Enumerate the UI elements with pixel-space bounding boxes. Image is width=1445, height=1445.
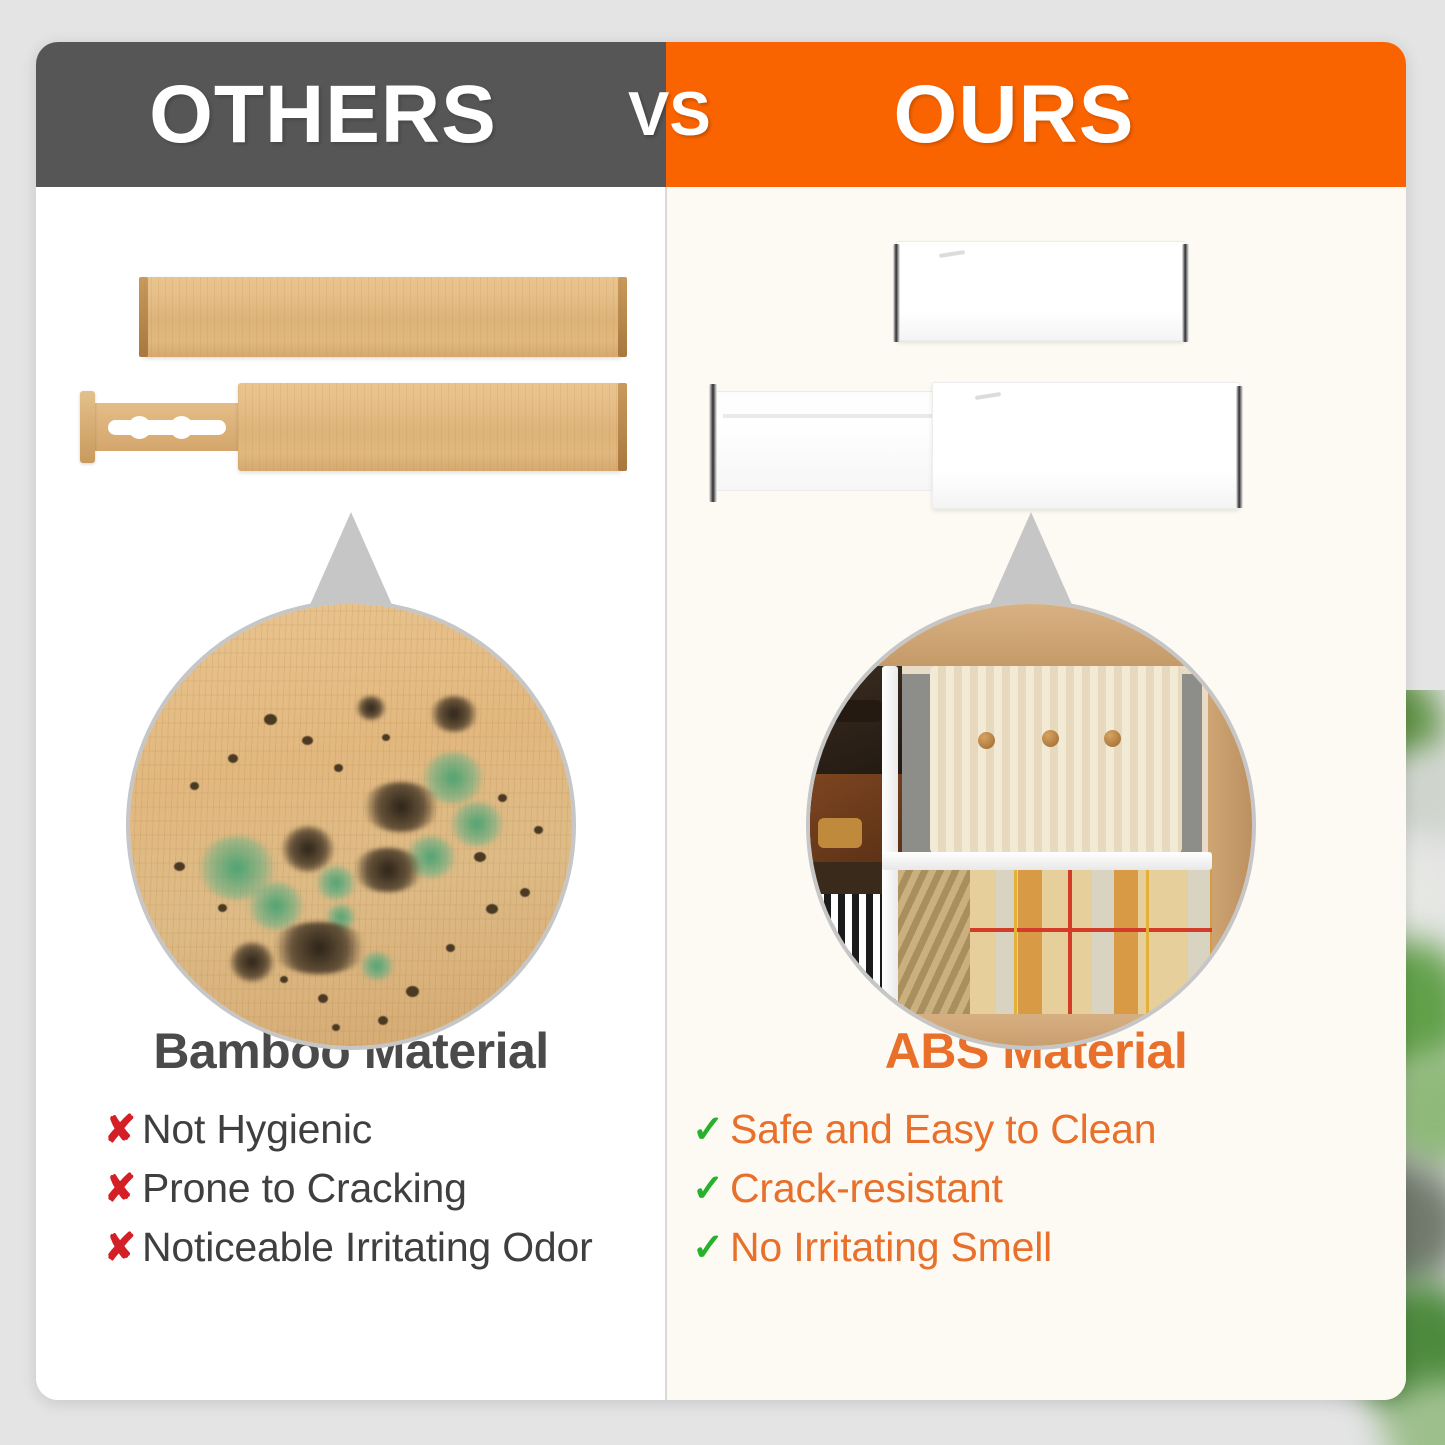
- abs-divider-product-image: [696, 229, 1376, 529]
- list-item: ✘ Prone to Cracking: [98, 1165, 666, 1212]
- bamboo-end-cap-right: [618, 277, 627, 357]
- check-icon: ✓: [686, 1111, 730, 1149]
- list-item: ✓ Crack-resistant: [686, 1165, 1406, 1212]
- bamboo-drawbacks-list: ✘ Not Hygienic ✘ Prone to Cracking ✘ Not…: [36, 1106, 666, 1271]
- header-ours-side: OURS: [666, 42, 1406, 187]
- list-item-label: Crack-resistant: [730, 1165, 1003, 1212]
- abs-panel-bottom: [932, 382, 1240, 509]
- ours-column: ABS Material ✓ Safe and Easy to Clean ✓ …: [666, 187, 1406, 1400]
- organized-drawer-photo: [810, 604, 1252, 1046]
- column-divider: [665, 187, 667, 1400]
- list-item: ✓ Safe and Easy to Clean: [686, 1106, 1406, 1153]
- list-item: ✘ Noticeable Irritating Odor: [98, 1224, 666, 1271]
- bamboo-board-top: [144, 277, 622, 357]
- abs-extension-rail: [716, 391, 944, 491]
- list-item-label: Not Hygienic: [142, 1106, 372, 1153]
- organized-drawer-magnifier: [806, 600, 1256, 1050]
- bamboo-mold-callout: [126, 512, 576, 1012]
- organized-drawer-callout: [806, 512, 1256, 1012]
- abs-benefits-list: ✓ Safe and Easy to Clean ✓ Crack-resista…: [666, 1106, 1406, 1271]
- others-column: Bamboo Material ✘ Not Hygienic ✘ Prone t…: [36, 187, 666, 1400]
- list-item-label: Safe and Easy to Clean: [730, 1106, 1156, 1153]
- bamboo-board-bottom: [238, 383, 622, 471]
- cross-icon: ✘: [98, 1229, 142, 1267]
- bamboo-board-bottom-end-cap: [618, 383, 627, 471]
- abs-edge-left: [893, 244, 900, 342]
- list-item-label: No Irritating Smell: [730, 1224, 1052, 1271]
- abs-panel-top: [896, 241, 1186, 341]
- check-icon: ✓: [686, 1229, 730, 1267]
- header-others-label: OTHERS: [149, 68, 497, 162]
- bamboo-rail-slot: [108, 420, 226, 435]
- header-ours-label: OURS: [894, 68, 1135, 162]
- header-others-side: OTHERS: [36, 42, 666, 187]
- cross-icon: ✘: [98, 1170, 142, 1208]
- comparison-body: Bamboo Material ✘ Not Hygienic ✘ Prone t…: [36, 187, 1406, 1400]
- list-item-label: Noticeable Irritating Odor: [142, 1224, 593, 1271]
- bamboo-divider-product-image: [66, 265, 636, 490]
- list-item: ✓ No Irritating Smell: [686, 1224, 1406, 1271]
- list-item: ✘ Not Hygienic: [98, 1106, 666, 1153]
- abs-tab-icon: [975, 392, 1001, 400]
- moldy-bamboo-surface: [130, 604, 572, 1046]
- bamboo-end-cap-left: [139, 277, 148, 357]
- comparison-card: OTHERS OURS VS: [36, 42, 1406, 1400]
- bamboo-rail-end-cap: [80, 391, 95, 463]
- abs-tab-icon: [939, 250, 965, 258]
- ours-summary: ABS Material ✓ Safe and Easy to Clean ✓ …: [666, 1022, 1406, 1283]
- check-icon: ✓: [686, 1170, 730, 1208]
- cross-icon: ✘: [98, 1111, 142, 1149]
- versus-label: VS: [628, 79, 711, 150]
- comparison-header: OTHERS OURS: [36, 42, 1406, 187]
- list-item-label: Prone to Cracking: [142, 1165, 467, 1212]
- bamboo-mold-magnifier: [126, 600, 576, 1050]
- abs-edge-right: [1182, 244, 1189, 342]
- abs-panel-bottom-edge: [1236, 386, 1243, 508]
- others-summary: Bamboo Material ✘ Not Hygienic ✘ Prone t…: [36, 1022, 666, 1283]
- abs-rail-end-cap: [709, 384, 717, 502]
